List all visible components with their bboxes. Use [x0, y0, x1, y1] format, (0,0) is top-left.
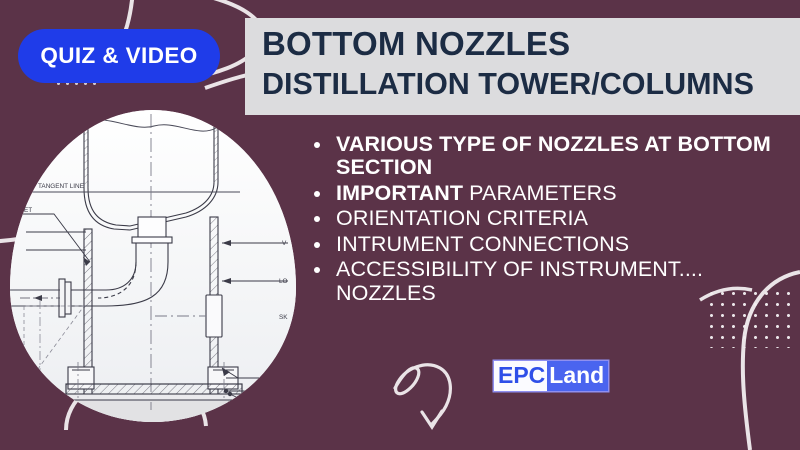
curly-arrow-doodle: [395, 365, 450, 427]
list-item: INTRUMENT CONNECTIONS: [310, 233, 790, 256]
list-item-plain: ACCESSIBILITY OF INSTRUMENT.... NOZZLES: [336, 257, 703, 304]
logo-epc-text: EPC: [494, 361, 547, 391]
drawing-circle: TANGENT LINE ET V LO SK BO STI BA EL 100: [10, 110, 296, 422]
drawing-label: EL: [279, 409, 287, 416]
title-band: BOTTOM NOZZLES DISTILLATION TOWER/COLUMN…: [245, 18, 800, 115]
drawing-label: STI: [279, 388, 289, 395]
drawing-label: 100: [278, 419, 289, 422]
epcland-logo[interactable]: EPC Land: [494, 361, 608, 391]
list-item: IMPORTANT PARAMETERS: [310, 182, 790, 205]
list-item-strong: IMPORTANT: [336, 181, 463, 205]
drawing-label: ET: [24, 207, 32, 214]
drawing-label: TANGENT LINE: [38, 183, 84, 190]
list-item: VARIOUS TYPE OF NOZZLES AT BOTTOM SECTIO…: [310, 133, 790, 180]
page-title: BOTTOM NOZZLES: [262, 27, 800, 61]
list-item-plain: INTRUMENT CONNECTIONS: [336, 232, 629, 256]
list-item: ACCESSIBILITY OF INSTRUMENT.... NOZZLES: [310, 258, 790, 305]
list-item-strong: VARIOUS TYPE OF NOZZLES AT BOTTOM SECTIO…: [336, 132, 771, 179]
list-item: ORIENTATION CRITERIA: [310, 207, 790, 230]
topic-bullet-list: VARIOUS TYPE OF NOZZLES AT BOTTOM SECTIO…: [310, 133, 790, 307]
list-item-plain: ORIENTATION CRITERIA: [336, 206, 588, 230]
drawing-label: SK: [279, 314, 288, 321]
page-subtitle: DISTILLATION TOWER/COLUMNS: [262, 69, 800, 100]
drawing-label: V: [282, 240, 287, 247]
logo-land-text: Land: [547, 361, 608, 391]
quiz-and-video-label: QUIZ & VIDEO: [40, 43, 197, 69]
quiz-and-video-badge[interactable]: QUIZ & VIDEO: [18, 29, 220, 83]
drawing-label: BA: [279, 399, 288, 406]
drawing-label: LO: [279, 278, 288, 285]
poster-canvas: TANGENT LINE ET V LO SK BO STI BA EL 100…: [0, 0, 800, 450]
drawing-label: BO: [279, 375, 288, 382]
tower-bottom-drawing: TANGENT LINE ET V LO SK BO STI BA EL 100: [10, 110, 296, 422]
list-item-plain: PARAMETERS: [463, 181, 617, 205]
